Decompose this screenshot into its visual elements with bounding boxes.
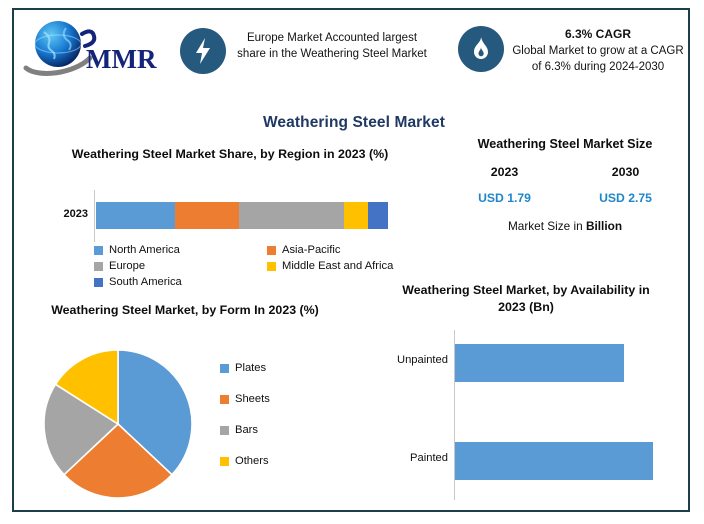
market-size-footnote: Market Size in Billion: [444, 219, 686, 233]
flame-icon: [458, 26, 504, 72]
region-segment: [96, 202, 175, 229]
availability-row: Painted: [364, 438, 688, 484]
region-value-axis: [94, 190, 95, 242]
legend-label: South America: [109, 276, 182, 288]
chart-availability-plot: UnpaintedPainted: [364, 330, 688, 500]
cagr-description: Global Market to grow at a CAGR of 6.3% …: [512, 45, 683, 73]
legend-swatch-icon: [220, 457, 229, 466]
legend-item[interactable]: Others: [220, 455, 350, 467]
legend-item[interactable]: Middle East and Africa: [267, 260, 440, 272]
globe-icon: MMR: [20, 16, 160, 84]
cagr-headline: 6.3% CAGR: [510, 26, 686, 43]
chart-availability: Weathering Steel Market, by Availability…: [364, 282, 688, 508]
chart-availability-title: Weathering Steel Market, by Availability…: [364, 282, 688, 316]
legend-label: Asia-Pacific: [282, 244, 340, 256]
market-size-footnote-unit: Billion: [586, 219, 622, 233]
chart-form-share-legend: PlatesSheetsBarsOthers: [220, 362, 350, 486]
legend-swatch-icon: [94, 262, 103, 271]
header-highlight-europe-text: Europe Market Accounted largest share in…: [232, 30, 432, 63]
legend-item[interactable]: Bars: [220, 424, 350, 436]
market-size-value-base: USD 1.79: [444, 191, 565, 205]
availability-row: Unpainted: [364, 340, 688, 386]
legend-swatch-icon: [220, 395, 229, 404]
legend-swatch-icon: [220, 364, 229, 373]
legend-item[interactable]: Plates: [220, 362, 350, 374]
legend-swatch-icon: [267, 246, 276, 255]
legend-label: Others: [235, 455, 269, 467]
market-size-value-forecast: USD 2.75: [565, 191, 686, 205]
mmr-logo: MMR: [20, 16, 160, 84]
region-segment: [344, 202, 367, 229]
market-size-year-base: 2023: [444, 165, 565, 179]
legend-swatch-icon: [267, 262, 276, 271]
region-stacked-bar: [96, 202, 388, 229]
market-size-year-forecast: 2030: [565, 165, 686, 179]
header: MMR Europe Market Accounted largest shar…: [14, 10, 688, 92]
pie-graphic: [42, 348, 194, 500]
region-segment: [368, 202, 388, 229]
region-segment: [239, 202, 344, 229]
brand-name: MMR: [86, 44, 157, 74]
market-size-panel: Weathering Steel Market Size 2023 2030 U…: [444, 136, 686, 264]
legend-item[interactable]: South America: [94, 276, 267, 288]
infographic-card: MMR Europe Market Accounted largest shar…: [12, 8, 690, 512]
legend-label: Bars: [235, 424, 258, 436]
availability-category-label: Painted: [364, 452, 448, 464]
legend-swatch-icon: [94, 246, 103, 255]
lightning-bolt-icon: [180, 28, 226, 74]
chart-form-share-plot: [42, 348, 194, 500]
market-size-values: USD 1.79 USD 2.75: [444, 191, 686, 205]
chart-form-share-title: Weathering Steel Market, by Form In 2023…: [20, 302, 350, 319]
legend-label: Middle East and Africa: [282, 260, 393, 272]
legend-item[interactable]: Europe: [94, 260, 267, 272]
chart-form-share: Weathering Steel Market, by Form In 2023…: [20, 302, 350, 508]
availability-category-label: Unpainted: [364, 354, 448, 366]
availability-bar: [455, 442, 653, 480]
region-segment: [175, 202, 239, 229]
legend-swatch-icon: [94, 278, 103, 287]
legend-swatch-icon: [220, 426, 229, 435]
page-title: Weathering Steel Market: [174, 114, 534, 132]
legend-item[interactable]: North America: [94, 244, 267, 256]
chart-region-share: Weathering Steel Market Share, by Region…: [20, 146, 440, 296]
legend-label: North America: [109, 244, 180, 256]
header-highlight-cagr-text: 6.3% CAGR Global Market to grow at a CAG…: [510, 26, 686, 76]
legend-item[interactable]: Asia-Pacific: [267, 244, 440, 256]
legend-item[interactable]: Sheets: [220, 393, 350, 405]
market-size-footnote-prefix: Market Size in: [508, 219, 586, 233]
region-category-label: 2023: [38, 208, 88, 220]
legend-label: Sheets: [235, 393, 270, 405]
chart-region-share-plot: 2023: [20, 190, 440, 242]
legend-label: Europe: [109, 260, 145, 272]
market-size-years: 2023 2030: [444, 165, 686, 179]
chart-region-share-title: Weathering Steel Market Share, by Region…: [20, 146, 440, 163]
market-size-title: Weathering Steel Market Size: [444, 136, 686, 153]
availability-bar: [455, 344, 624, 382]
legend-label: Plates: [235, 362, 266, 374]
